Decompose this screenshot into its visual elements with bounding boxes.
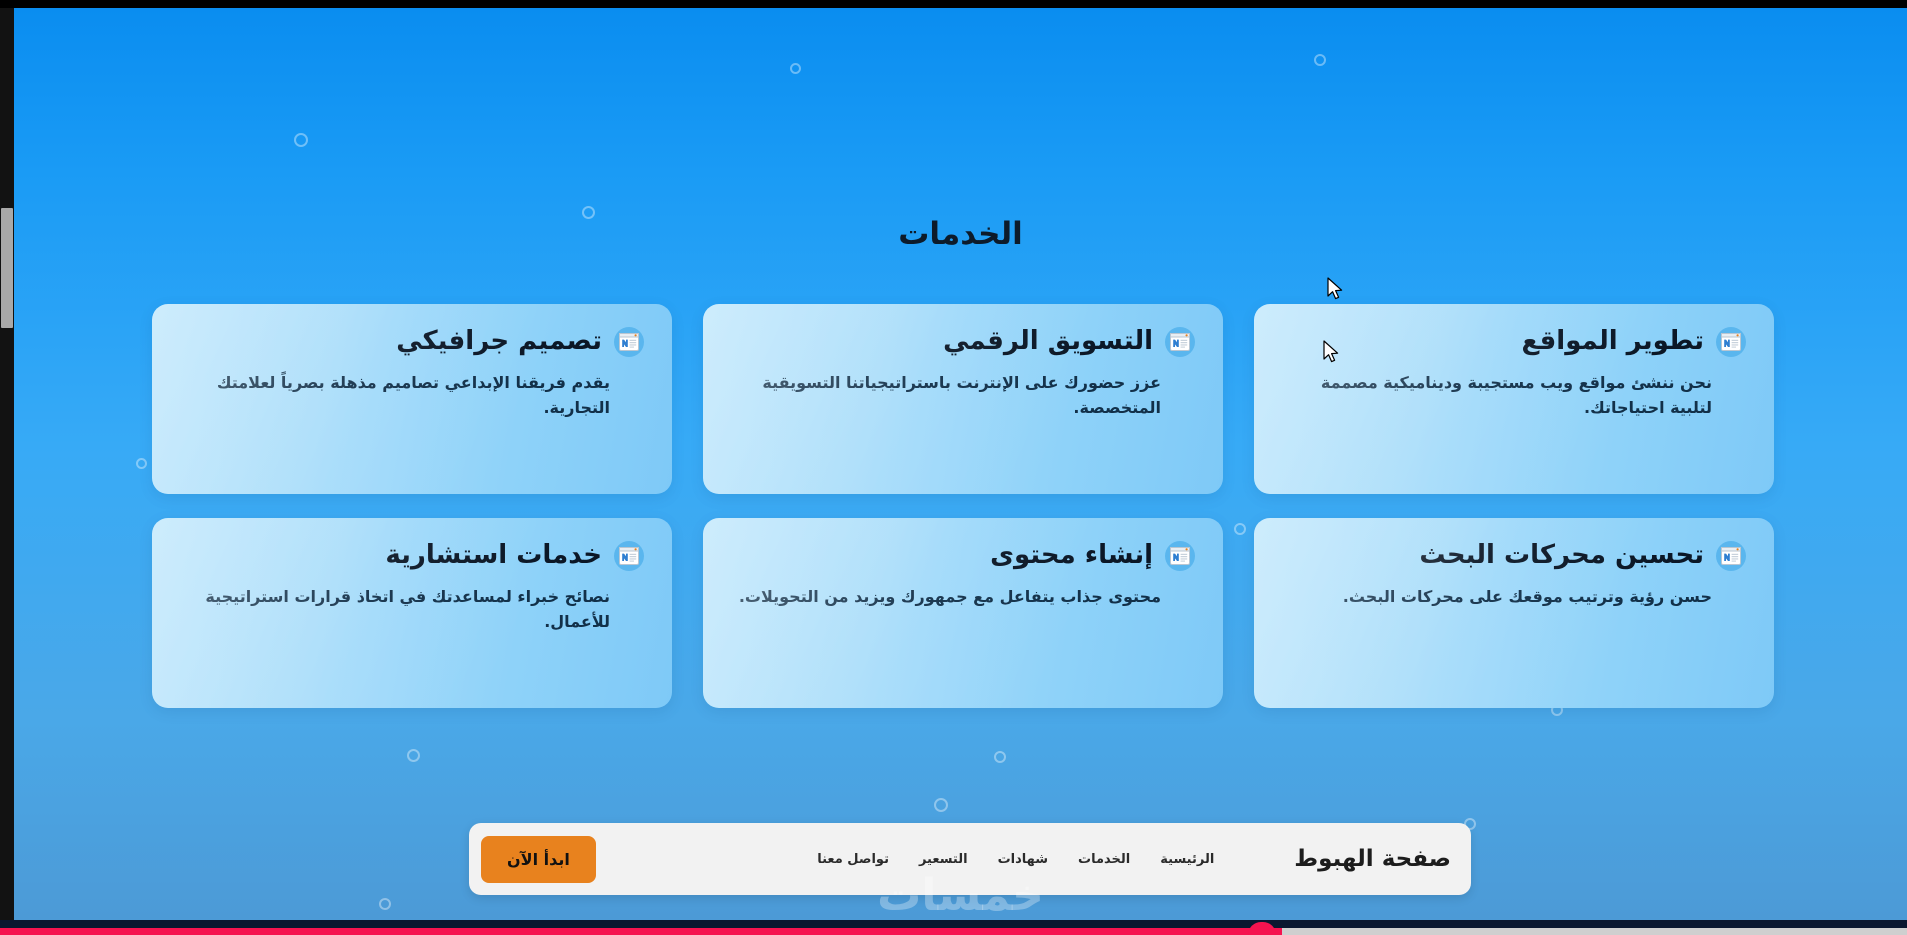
progress-track-played[interactable]: [0, 928, 1282, 935]
service-card[interactable]: التسويق الرقميعزز حضورك على الإنترنت باس…: [703, 304, 1223, 494]
nav-link-2[interactable]: الخدمات: [1078, 852, 1130, 867]
progress-track-remaining[interactable]: [1282, 928, 1907, 935]
service-card-header: إنشاء محتوى: [731, 540, 1195, 571]
service-card-description: حسن رؤية وترتيب موقعك على محركات البحث.: [1282, 585, 1712, 610]
broken-image-icon: [1165, 541, 1195, 571]
service-card-description: محتوى جذاب يتفاعل مع جمهورك ويزيد من الت…: [731, 585, 1161, 610]
broken-image-icon: [614, 327, 644, 357]
service-card-header: التسويق الرقمي: [731, 326, 1195, 357]
service-card[interactable]: تحسين محركات البحثحسن رؤية وترتيب موقعك …: [1254, 518, 1774, 708]
service-card-title: تحسين محركات البحث: [1419, 540, 1704, 571]
service-card-title: خدمات استشارية: [385, 540, 602, 571]
service-card-header: تطوير المواقع: [1282, 326, 1746, 357]
broken-image-icon: [1716, 541, 1746, 571]
nav-link-5[interactable]: تواصل معنا: [817, 852, 889, 867]
page-scrollbar-track[interactable]: [0, 8, 14, 920]
service-card[interactable]: خدمات استشاريةنصائح خبراء لمساعدتك في ات…: [152, 518, 672, 708]
service-card[interactable]: تصميم جرافيكييقدم فريقنا الإبداعي تصاميم…: [152, 304, 672, 494]
service-card[interactable]: إنشاء محتوىمحتوى جذاب يتفاعل مع جمهورك و…: [703, 518, 1223, 708]
browser-viewport: الخدمات تطوير المواقعنحن ننشئ مواقع ويب …: [14, 8, 1907, 920]
service-card-header: تصميم جرافيكي: [180, 326, 644, 357]
service-card-title: تصميم جرافيكي: [396, 326, 602, 357]
broken-image-icon: [1716, 327, 1746, 357]
decorative-circle-icon: [136, 458, 147, 469]
broken-image-icon: [614, 541, 644, 571]
nav-link-3[interactable]: شهادات: [998, 852, 1048, 867]
decorative-circle-icon: [294, 133, 308, 147]
service-card-description: نصائح خبراء لمساعدتك في اتخاذ قرارات است…: [180, 585, 610, 635]
decorative-circle-icon: [790, 63, 801, 74]
decorative-circle-icon: [934, 798, 948, 812]
service-card[interactable]: تطوير المواقعنحن ننشئ مواقع ويب مستجيبة …: [1254, 304, 1774, 494]
service-card-description: عزز حضورك على الإنترنت باستراتيجياتنا ال…: [731, 371, 1161, 421]
service-card-header: خدمات استشارية: [180, 540, 644, 571]
service-card-header: تحسين محركات البحث: [1282, 540, 1746, 571]
service-card-description: نحن ننشئ مواقع ويب مستجيبة وديناميكية مص…: [1282, 371, 1712, 421]
decorative-circle-icon: [994, 751, 1006, 763]
nav-link-1[interactable]: الرئيسية: [1160, 852, 1214, 867]
progress-knob[interactable]: [1248, 922, 1276, 935]
nav-link-4[interactable]: التسعير: [919, 852, 968, 867]
service-card-title: إنشاء محتوى: [990, 540, 1153, 571]
decorative-circle-icon: [1314, 54, 1326, 66]
screen-root: الخدمات تطوير المواقعنحن ننشئ مواقع ويب …: [0, 0, 1907, 935]
bottom-navbar: صفحة الهبوط الرئيسيةالخدماتشهاداتالتسعير…: [469, 823, 1471, 895]
start-now-button[interactable]: ابدأ الآن: [481, 836, 596, 883]
service-card-title: تطوير المواقع: [1522, 326, 1704, 357]
services-grid: تطوير المواقعنحن ننشئ مواقع ويب مستجيبة …: [149, 304, 1774, 708]
broken-image-icon: [1165, 327, 1195, 357]
brand-title: صفحة الهبوط: [1294, 846, 1451, 872]
nav-links: الرئيسيةالخدماتشهاداتالتسعيرتواصل معنا: [817, 852, 1214, 867]
decorative-circle-icon: [407, 749, 420, 762]
service-card-title: التسويق الرقمي: [943, 326, 1153, 357]
page-title: الخدمات: [14, 216, 1907, 252]
page-scrollbar-thumb[interactable]: [1, 208, 13, 328]
bottom-os-bar: [0, 920, 1907, 935]
decorative-circle-icon: [379, 898, 391, 910]
service-card-description: يقدم فريقنا الإبداعي تصاميم مذهلة بصرياً…: [180, 371, 610, 421]
